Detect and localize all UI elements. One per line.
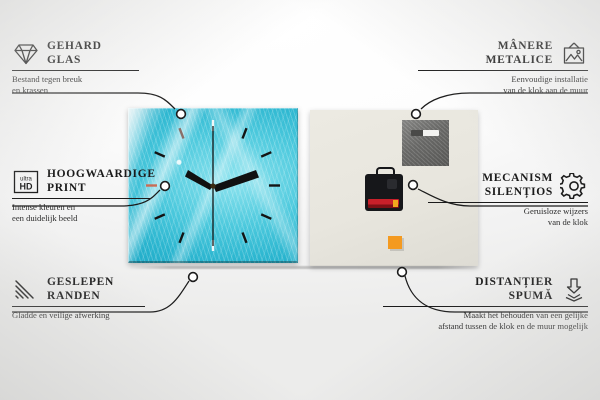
title-rule [12, 70, 139, 71]
title-rule [12, 198, 150, 199]
feature-title: MÂNERE METALICE [486, 40, 553, 67]
feature-manere-metalice: MÂNERE METALICE Eenvoudige installatie v… [418, 40, 588, 95]
mechanism-dial [387, 179, 397, 189]
picture-frame-hanger-icon [560, 41, 588, 67]
battery [368, 199, 399, 208]
feature-distantier-spuma: DISTANȚIER SPUMĂ Maakt het behouden van … [383, 276, 588, 331]
title-rule [383, 306, 588, 307]
mechanism-hanger-loop [376, 167, 395, 178]
diamond-icon [12, 42, 40, 66]
feature-description: Bestand tegen breuk en krassen [12, 74, 152, 95]
feature-description: Geruisloze wijzers van de klok [428, 206, 588, 227]
feature-description: Maakt het behouden van een gelijke afsta… [383, 310, 588, 331]
title-rule [12, 306, 145, 307]
svg-text:HD: HD [20, 181, 33, 191]
feature-title: DISTANȚIER SPUMĂ [475, 276, 553, 303]
clock-mechanism [365, 174, 403, 211]
gear-icon [560, 173, 588, 199]
ultra-hd-icon: ultra HD [12, 169, 40, 195]
stacked-arrow-down-icon [560, 277, 588, 303]
feature-description: Gladde en veilige afwerking [12, 310, 157, 321]
feature-title: HOOGWAARDIGE PRINT [47, 168, 156, 195]
feature-description: Intense kleuren en een duidelijk beeld [12, 202, 162, 223]
diagonal-lines-icon [12, 278, 40, 302]
feature-hoogwaardige-print: ultra HD HOOGWAARDIGE PRINT Intense kleu… [12, 168, 162, 223]
product-shadow [128, 266, 480, 269]
feature-title: MECANISM SILENȚIOS [482, 172, 553, 199]
foam-spacer [388, 236, 402, 249]
feature-gehard-glas: GEHARD GLAS Bestand tegen breuk en krass… [12, 40, 152, 95]
metal-hanger-plate [402, 120, 449, 166]
product-photo [128, 108, 478, 268]
feature-geslepen-randen: GESLEPEN RANDEN Gladde en veilige afwerk… [12, 276, 157, 321]
feature-title: GEHARD GLAS [47, 40, 102, 67]
title-rule [418, 70, 588, 71]
feature-mecanism-silentios: MECANISM SILENȚIOS Geruisloze wijzers va… [428, 172, 588, 227]
title-rule [428, 202, 588, 203]
feature-title: GESLEPEN RANDEN [47, 276, 114, 303]
hanger-slot [411, 130, 439, 136]
infographic-canvas: GEHARD GLAS Bestand tegen breuk en krass… [0, 0, 600, 400]
callout-dot-edges [189, 273, 198, 282]
feature-description: Eenvoudige installatie van de klok aan d… [418, 74, 588, 95]
